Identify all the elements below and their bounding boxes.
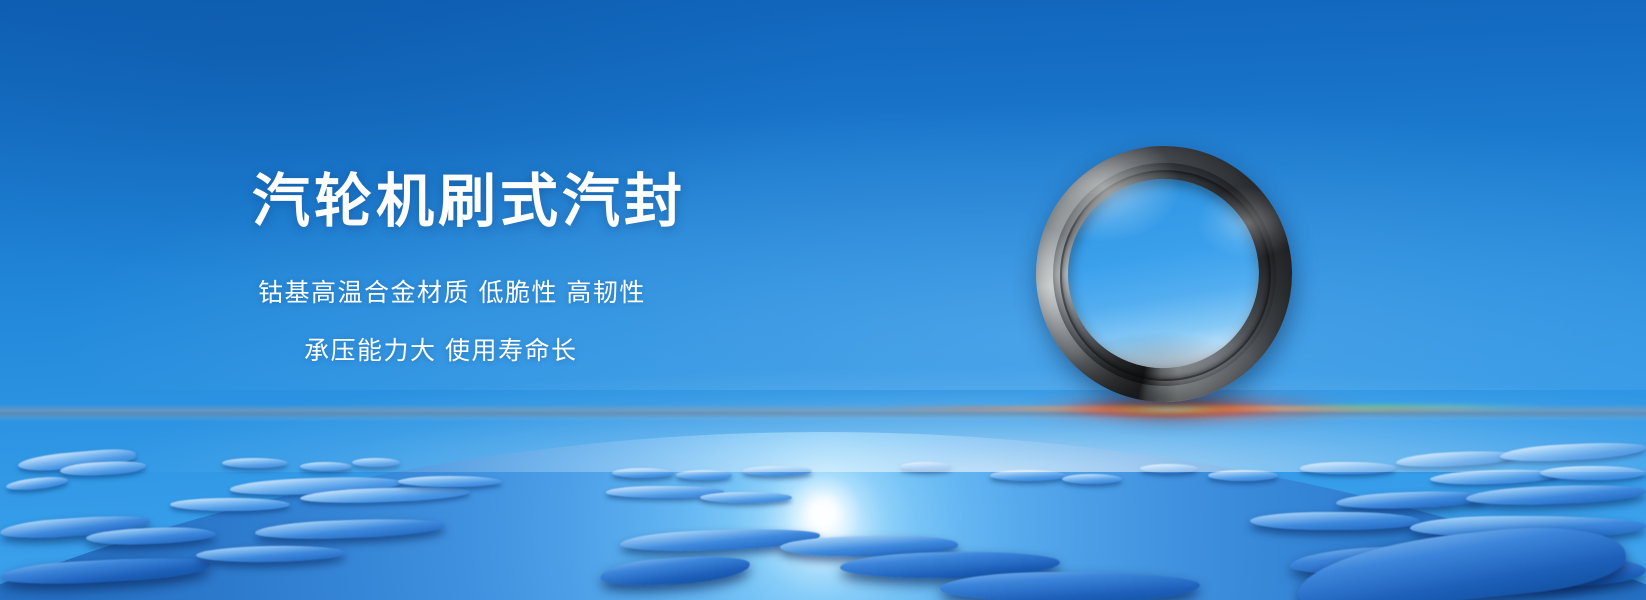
landmass — [1300, 462, 1396, 474]
product-image-seal-ring — [1036, 146, 1292, 402]
globe-body — [0, 432, 1646, 600]
landmass — [1540, 466, 1646, 480]
landmass — [1500, 440, 1646, 464]
landmass — [18, 447, 137, 473]
banner-subtitle-2: 承压能力大 使用寿命长 — [304, 331, 952, 367]
landmass — [60, 460, 147, 477]
banner-copy: 汽轮机刷式汽封 钴基高温合金材质 低脆性 高韧性 承压能力大 使用寿命长 — [252, 170, 952, 367]
landmass — [0, 513, 150, 541]
banner-headline: 汽轮机刷式汽封 — [252, 170, 952, 235]
landmass — [1466, 483, 1646, 507]
landmass — [352, 458, 400, 467]
hero-banner: 汽轮机刷式汽封 钴基高温合金材质 低脆性 高韧性 承压能力大 使用寿命长 — [0, 0, 1646, 600]
landmass — [1396, 449, 1517, 469]
landmass — [6, 475, 69, 492]
banner-subtitle-1: 钴基高温合金材质 低脆性 高韧性 — [258, 273, 952, 309]
landmass — [1430, 468, 1560, 487]
landmass — [222, 458, 288, 468]
landmass — [300, 462, 352, 471]
